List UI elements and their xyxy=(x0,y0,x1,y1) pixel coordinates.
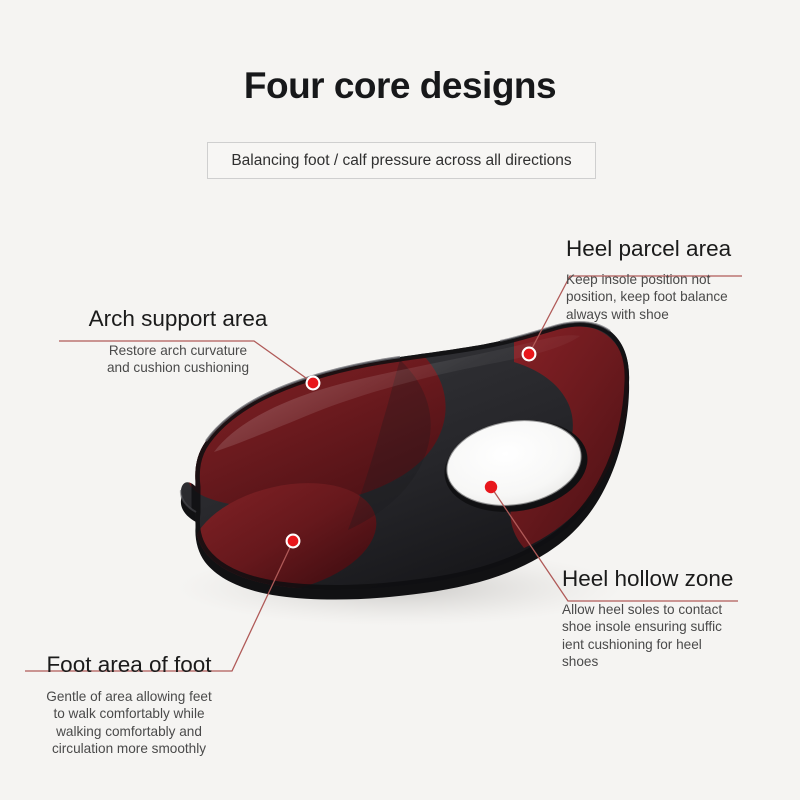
callout-body-line: walking comfortably and xyxy=(18,723,240,740)
callout-body-line: to walk comfortably while xyxy=(18,705,240,722)
infographic-canvas: Four core designs Balancing foot / calf … xyxy=(0,0,800,800)
callout-body-foot-area: Gentle of area allowing feet to walk com… xyxy=(18,688,240,758)
callout-title-arch-support: Arch support area xyxy=(52,306,304,332)
callout-body-line: Restore arch curvature xyxy=(52,342,304,359)
callout-body-heel-parcel: Keep insole position not position, keep … xyxy=(566,271,798,323)
callout-foot-area-of-foot: Foot area of foot Gentle of area allowin… xyxy=(18,652,240,757)
callout-title-heel-parcel: Heel parcel area xyxy=(566,236,798,262)
callout-body-line: and cushion cushioning xyxy=(52,359,304,376)
page-title: Four core designs xyxy=(0,66,800,107)
callout-body-heel-hollow: Allow heel soles to contact shoe insole … xyxy=(562,601,796,671)
callout-title-foot-area: Foot area of foot xyxy=(18,652,240,678)
callout-title-heel-hollow: Heel hollow zone xyxy=(562,566,796,592)
callout-arch-support-area: Arch support area Restore arch curvature… xyxy=(52,306,304,377)
callout-heel-parcel-area: Heel parcel area Keep insole position no… xyxy=(566,236,798,323)
callout-body-line: shoes xyxy=(562,653,796,670)
callout-body-line: shoe insole ensuring suffic xyxy=(562,618,796,635)
callout-body-line: Keep insole position not xyxy=(566,271,798,288)
subtitle-box: Balancing foot / calf pressure across al… xyxy=(207,142,596,179)
callout-body-arch-support: Restore arch curvature and cushion cushi… xyxy=(52,342,304,377)
callout-body-line: position, keep foot balance xyxy=(566,288,798,305)
callout-body-line: always with shoe xyxy=(566,306,798,323)
callout-body-line: Allow heel soles to contact xyxy=(562,601,796,618)
callout-body-line: circulation more smoothly xyxy=(18,740,240,757)
callout-body-line: Gentle of area allowing feet xyxy=(18,688,240,705)
callout-body-line: ient cushioning for heel xyxy=(562,636,796,653)
callout-heel-hollow-zone: Heel hollow zone Allow heel soles to con… xyxy=(562,566,796,670)
subtitle-text: Balancing foot / calf pressure across al… xyxy=(231,152,571,170)
